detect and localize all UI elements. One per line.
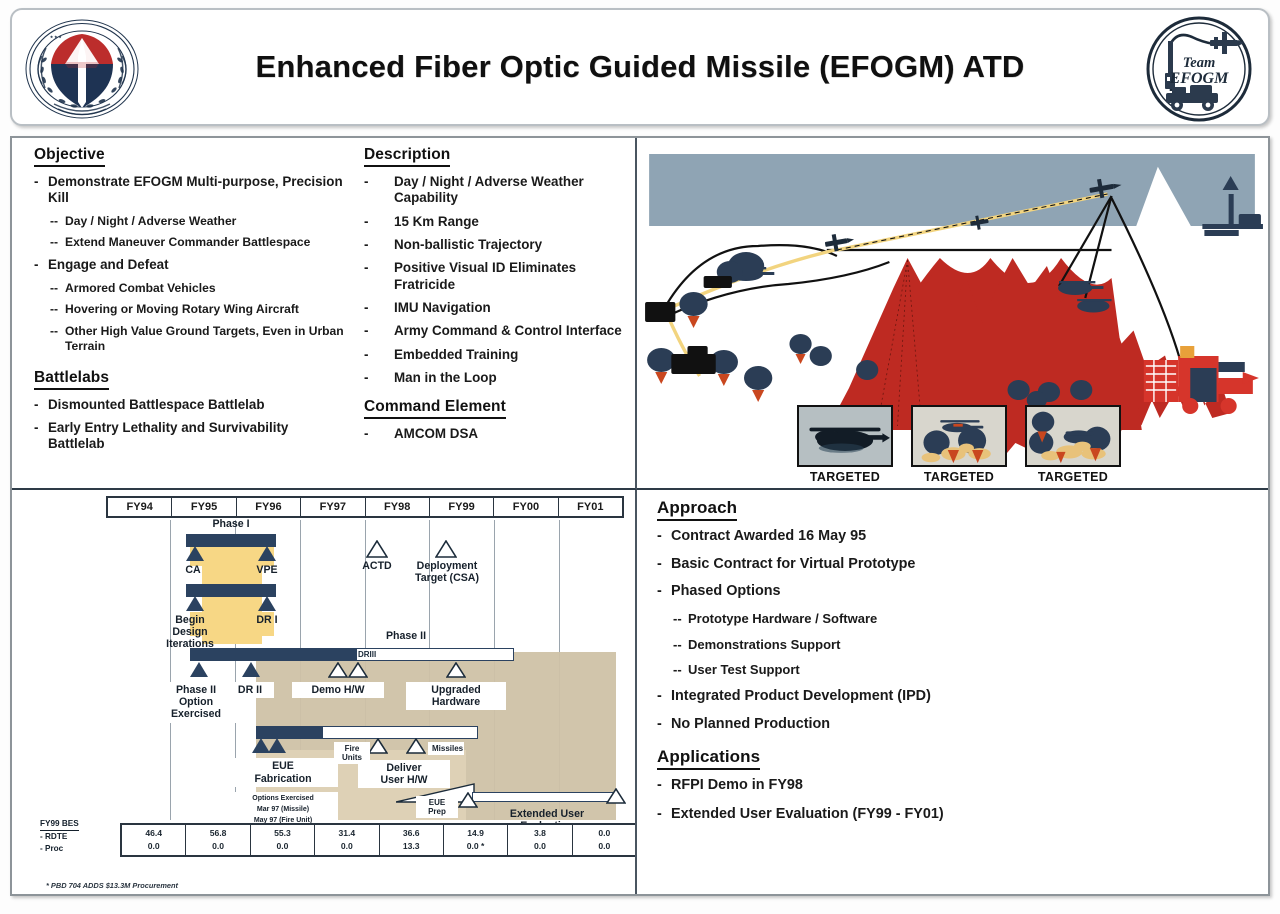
milestone-actd-label: ACTD bbox=[346, 560, 408, 572]
approach-item: - Basic Contract for Virtual Prototype bbox=[657, 556, 1087, 574]
fiscal-year-header-row: FY94 FY95 FY96 FY97 FY98 FY99 FY00 FY01 bbox=[106, 496, 624, 518]
objective-subitem-label: Hovering or Moving Rotary Wing Aircraft bbox=[65, 302, 344, 317]
command-element-item-label: AMCOM DSA bbox=[394, 426, 626, 442]
description-item: - Embedded Training bbox=[364, 347, 626, 363]
milestone-phase-ii-option-marker bbox=[190, 662, 208, 677]
budget-rdte-value: 14.9 bbox=[444, 827, 507, 840]
budget-column: 55.3 0.0 bbox=[251, 825, 315, 855]
aviation-center-of-excellence-seal-icon: ★ ★ ★ bbox=[20, 16, 144, 122]
description-item-label: Non-ballistic Trajectory bbox=[394, 237, 626, 253]
budget-rdte-value: 0.0 bbox=[573, 827, 636, 840]
open-milestone-upgraded-hw-icon bbox=[446, 662, 466, 678]
approach-item: - Contract Awarded 16 May 95 bbox=[657, 528, 1087, 546]
budget-row-name-proc: Proc bbox=[45, 844, 63, 853]
missiles-label: Missiles bbox=[428, 742, 464, 755]
team-efogm-line2: EFOGM bbox=[1169, 70, 1229, 87]
thumbnail-item: TARGETED bbox=[1025, 405, 1121, 484]
approach-item: - Phased Options bbox=[657, 583, 1087, 601]
objective-heading: Objective bbox=[34, 146, 105, 167]
description-item-label: IMU Navigation bbox=[394, 300, 626, 316]
budget-footnote: * PBD 704 ADDS $13.3M Procurement bbox=[46, 881, 178, 890]
bullet-dash: - bbox=[364, 426, 394, 442]
eue-prep-label: EUE Prep bbox=[416, 796, 458, 818]
budget-rdte-value: 31.4 bbox=[315, 827, 378, 840]
objective-column: Objective - Demonstrate EFOGM Multi-purp… bbox=[34, 146, 344, 460]
milestone-ca-marker bbox=[186, 546, 204, 561]
bullet-dash: - bbox=[657, 688, 671, 706]
objective-item: - Demonstrate EFOGM Multi-purpose, Preci… bbox=[34, 174, 344, 207]
panel-concept-art: TARGETED bbox=[637, 138, 1268, 490]
battlelabs-item: - Dismounted Battlespace Battlelab bbox=[34, 397, 344, 413]
bullet-dash: -- bbox=[50, 302, 65, 317]
open-milestone-eue-end-icon bbox=[606, 788, 626, 804]
bullet-dash: - bbox=[34, 174, 48, 207]
bullet-dash: - bbox=[657, 583, 671, 601]
budget-proc-value: 0.0 bbox=[122, 840, 185, 853]
bullet-dash: - bbox=[657, 806, 671, 824]
approach-subitem: -- User Test Support bbox=[673, 662, 1087, 678]
fy-gridline bbox=[170, 520, 171, 820]
budget-rdte-value: 55.3 bbox=[251, 827, 314, 840]
description-item-label: Man in the Loop bbox=[394, 370, 626, 386]
bullet-dash: -- bbox=[50, 214, 65, 229]
approach-subitem-label: User Test Support bbox=[688, 662, 1087, 678]
page-title: Enhanced Fiber Optic Guided Missile (EFO… bbox=[256, 49, 1025, 85]
budget-proc-value: 0.0 bbox=[315, 840, 378, 853]
milestone-eue-fab-marker-b bbox=[268, 738, 286, 753]
budget-column: 46.4 0.0 bbox=[122, 825, 186, 855]
approach-item-label: No Planned Production bbox=[671, 716, 1087, 734]
vehicle-explosion-thumbnail bbox=[1025, 405, 1121, 467]
open-milestone-demo-hw-icon-b bbox=[348, 662, 368, 678]
milestone-begin-design-label: Begin Design Iterations bbox=[154, 614, 226, 651]
helicopter-explosion-thumbnail bbox=[911, 405, 1007, 467]
approach-item: - Integrated Product Development (IPD) bbox=[657, 688, 1087, 706]
approach-heading: Approach bbox=[657, 498, 737, 521]
fy-header-cell: FY98 bbox=[366, 498, 430, 516]
milestone-dr1-label: DR I bbox=[242, 614, 292, 626]
approach-subitem: -- Demonstrations Support bbox=[673, 637, 1087, 653]
objective-subitem-label: Armored Combat Vehicles bbox=[65, 281, 344, 296]
objective-subitem: -- Day / Night / Adverse Weather bbox=[50, 214, 344, 229]
bullet-dash: -- bbox=[673, 611, 688, 627]
budget-row-labels: FY99 BES - RDTE - Proc bbox=[40, 818, 116, 855]
milestone-upgraded-hardware-label: Upgraded Hardware bbox=[406, 682, 506, 710]
description-item: - Man in the Loop bbox=[364, 370, 626, 386]
thumbnail-caption: TARGETED bbox=[1025, 470, 1121, 484]
budget-column: 36.6 13.3 bbox=[380, 825, 444, 855]
budget-row-marker: - bbox=[40, 832, 43, 841]
budget-proc-value: 13.3 bbox=[380, 840, 443, 853]
description-item: - Positive Visual ID Eliminates Fratrici… bbox=[364, 260, 626, 293]
budget-rdte-value: 36.6 bbox=[380, 827, 443, 840]
objective-subitem: -- Armored Combat Vehicles bbox=[50, 281, 344, 296]
objective-item-label: Demonstrate EFOGM Multi-purpose, Precisi… bbox=[48, 174, 344, 207]
applications-item-label: RFPI Demo in FY98 bbox=[671, 777, 1087, 795]
targeted-thumbnails: TARGETED bbox=[797, 405, 1121, 484]
milestone-deployment-target-label: Deployment Target (CSA) bbox=[402, 560, 492, 584]
objective-subitem: -- Other High Value Ground Targets, Even… bbox=[50, 324, 344, 354]
approach-subitem-label: Demonstrations Support bbox=[688, 637, 1087, 653]
open-milestone-eue-prep-icon bbox=[458, 792, 478, 808]
budget-proc-value: 0.0 bbox=[508, 840, 571, 853]
milestone-dr1-marker bbox=[258, 596, 276, 611]
description-item-label: Army Command & Control Interface bbox=[394, 323, 626, 339]
milestone-dr2-marker bbox=[242, 662, 260, 677]
description-item: - 15 Km Range bbox=[364, 214, 626, 230]
fy-header-cell: FY94 bbox=[108, 498, 172, 516]
helicopter-target-thumbnail bbox=[797, 405, 893, 467]
approach-item-label: Integrated Product Development (IPD) bbox=[671, 688, 1087, 706]
budget-table: 46.4 0.0 56.8 0.0 55.3 0.0 31.4 bbox=[120, 823, 637, 857]
milestone-ca-label: CA bbox=[172, 564, 214, 576]
description-item-label: Embedded Training bbox=[394, 347, 626, 363]
milestone-vpe-label: VPE bbox=[246, 564, 288, 576]
eue-fabrication-label: EUE Fabrication bbox=[228, 758, 338, 787]
budget-table-title: FY99 BES bbox=[40, 818, 79, 831]
slide-root: ★ ★ ★ Enhanced Fiber Optic Guided Missil… bbox=[0, 0, 1280, 914]
panel-approach-applications: Approach - Contract Awarded 16 May 95 - … bbox=[637, 490, 1268, 894]
applications-item-label: Extended User Evaluation (FY99 - FY01) bbox=[671, 806, 1087, 824]
battlelabs-heading: Battlelabs bbox=[34, 369, 109, 390]
budget-column: 14.9 0.0 * bbox=[444, 825, 508, 855]
command-element-item: - AMCOM DSA bbox=[364, 426, 626, 442]
description-item-label: Day / Night / Adverse Weather Capability bbox=[394, 174, 626, 207]
milestone-vpe-marker bbox=[258, 546, 276, 561]
command-element-heading: Command Element bbox=[364, 398, 506, 419]
budget-row-name-rdte: RDTE bbox=[45, 832, 67, 841]
budget-rdte-value: 46.4 bbox=[122, 827, 185, 840]
phase-ii-label: Phase II bbox=[346, 630, 466, 642]
objective-item: - Engage and Defeat bbox=[34, 257, 344, 273]
objective-subitem: -- Hovering or Moving Rotary Wing Aircra… bbox=[50, 302, 344, 317]
description-item-label: Positive Visual ID Eliminates Fratricide bbox=[394, 260, 626, 293]
objective-subitem-label: Other High Value Ground Targets, Even in… bbox=[65, 324, 344, 354]
budget-column: 3.8 0.0 bbox=[508, 825, 572, 855]
applications-heading: Applications bbox=[657, 747, 760, 770]
bullet-dash: - bbox=[364, 174, 394, 207]
thumbnail-caption: TARGETED bbox=[797, 470, 893, 484]
bullet-dash: - bbox=[364, 260, 394, 293]
fy-header-cell: FY99 bbox=[430, 498, 494, 516]
team-efogm-line1: Team bbox=[1183, 55, 1216, 71]
description-item-label: 15 Km Range bbox=[394, 214, 626, 230]
bullet-dash: - bbox=[34, 257, 48, 273]
thumbnail-caption: TARGETED bbox=[911, 470, 1007, 484]
approach-item-label: Contract Awarded 16 May 95 bbox=[671, 528, 1087, 546]
open-milestone-actd-icon bbox=[366, 540, 388, 558]
bullet-dash: -- bbox=[50, 235, 65, 250]
battlelabs-item-label: Early Entry Lethality and Survivability … bbox=[48, 420, 344, 453]
bullet-dash: -- bbox=[673, 662, 688, 678]
slide-body: Objective - Demonstrate EFOGM Multi-purp… bbox=[10, 136, 1270, 896]
budget-rdte-value: 3.8 bbox=[508, 827, 571, 840]
open-milestone-deployment-icon bbox=[435, 540, 457, 558]
bullet-dash: - bbox=[657, 777, 671, 795]
budget-column: 0.0 0.0 bbox=[573, 825, 636, 855]
bullet-dash: - bbox=[364, 214, 394, 230]
objective-item-label: Engage and Defeat bbox=[48, 257, 344, 273]
thumbnail-item: TARGETED bbox=[911, 405, 1007, 484]
bullet-dash: -- bbox=[50, 281, 65, 296]
approach-item: - No Planned Production bbox=[657, 716, 1087, 734]
svg-text:★ ★ ★: ★ ★ ★ bbox=[50, 34, 62, 39]
approach-subitem: -- Prototype Hardware / Software bbox=[673, 611, 1087, 627]
milestone-dr2-label: DR II bbox=[226, 682, 274, 698]
budget-proc-value: 0.0 * bbox=[444, 840, 507, 853]
schedule-graphic: FY94 FY95 FY96 FY97 FY98 FY99 FY00 FY01 bbox=[26, 496, 627, 890]
approach-column: Approach - Contract Awarded 16 May 95 - … bbox=[657, 498, 1087, 831]
applications-item: - RFPI Demo in FY98 bbox=[657, 777, 1087, 795]
bullet-dash: - bbox=[657, 556, 671, 574]
approach-item-label: Basic Contract for Virtual Prototype bbox=[671, 556, 1087, 574]
bullet-dash: - bbox=[657, 716, 671, 734]
budget-column: 56.8 0.0 bbox=[186, 825, 250, 855]
battlelabs-item-label: Dismounted Battlespace Battlelab bbox=[48, 397, 344, 413]
bullet-dash: - bbox=[364, 300, 394, 316]
bullet-dash: - bbox=[364, 237, 394, 253]
open-milestone-fire-units-icon bbox=[368, 738, 388, 754]
bullet-dash: - bbox=[364, 347, 394, 363]
fy-header-cell: FY95 bbox=[172, 498, 236, 516]
schedule-plot-area: Phase I CA VPE Begin Design Iterations D… bbox=[106, 520, 624, 820]
description-item: - Non-ballistic Trajectory bbox=[364, 237, 626, 253]
fy-header-cell: FY01 bbox=[559, 498, 622, 516]
milestone-begin-design-marker bbox=[186, 596, 204, 611]
description-item: - Army Command & Control Interface bbox=[364, 323, 626, 339]
milestone-demo-hw-label: Demo H/W bbox=[292, 682, 384, 698]
bullet-dash: - bbox=[34, 397, 48, 413]
bullet-dash: - bbox=[34, 420, 48, 453]
budget-row-marker: - bbox=[40, 844, 43, 853]
eue-bar-open bbox=[322, 726, 478, 739]
slide-header: ★ ★ ★ Enhanced Fiber Optic Guided Missil… bbox=[10, 8, 1270, 126]
bullet-dash: -- bbox=[50, 324, 65, 354]
fy-header-cell: FY96 bbox=[237, 498, 301, 516]
applications-item: - Extended User Evaluation (FY99 - FY01) bbox=[657, 806, 1087, 824]
extended-user-evaluation-bar bbox=[472, 792, 618, 802]
bullet-dash: - bbox=[364, 323, 394, 339]
budget-proc-value: 0.0 bbox=[573, 840, 636, 853]
fy-header-cell: FY00 bbox=[494, 498, 558, 516]
fy-header-cell: FY97 bbox=[301, 498, 365, 516]
description-column: Description - Day / Night / Adverse Weat… bbox=[364, 146, 626, 450]
phase-ii-bar-dark bbox=[190, 648, 356, 661]
bullet-dash: -- bbox=[673, 637, 688, 653]
battlelabs-item: - Early Entry Lethality and Survivabilit… bbox=[34, 420, 344, 453]
objective-subitem-label: Extend Maneuver Commander Battlespace bbox=[65, 235, 344, 250]
open-milestone-missiles-icon bbox=[406, 738, 426, 754]
thumbnail-item: TARGETED bbox=[797, 405, 893, 484]
bullet-dash: - bbox=[657, 528, 671, 546]
approach-subitem-label: Prototype Hardware / Software bbox=[688, 611, 1087, 627]
phase-i-label: Phase I bbox=[186, 518, 276, 530]
panel-schedule-chart: FY94 FY95 FY96 FY97 FY98 FY99 FY00 FY01 bbox=[12, 490, 637, 894]
approach-item-label: Phased Options bbox=[671, 583, 1087, 601]
budget-column: 31.4 0.0 bbox=[315, 825, 379, 855]
budget-proc-value: 0.0 bbox=[251, 840, 314, 853]
objective-subitem-label: Day / Night / Adverse Weather bbox=[65, 214, 344, 229]
objective-subitem: -- Extend Maneuver Commander Battlespace bbox=[50, 235, 344, 250]
budget-table-group: FY99 BES - RDTE - Proc 46.4 0.0 56.8 bbox=[40, 820, 619, 876]
budget-proc-value: 0.0 bbox=[186, 840, 249, 853]
description-item: - Day / Night / Adverse Weather Capabili… bbox=[364, 174, 626, 207]
description-item: - IMU Navigation bbox=[364, 300, 626, 316]
team-efogm-logo-icon: Team EFOGM bbox=[1136, 13, 1262, 125]
panel-objective-description: Objective - Demonstrate EFOGM Multi-purp… bbox=[12, 138, 637, 490]
open-milestone-demo-hw-icon-a bbox=[328, 662, 348, 678]
budget-rdte-value: 56.8 bbox=[186, 827, 249, 840]
bullet-dash: - bbox=[364, 370, 394, 386]
description-heading: Description bbox=[364, 146, 450, 167]
dr3-inline-label: DRIII bbox=[358, 650, 384, 659]
